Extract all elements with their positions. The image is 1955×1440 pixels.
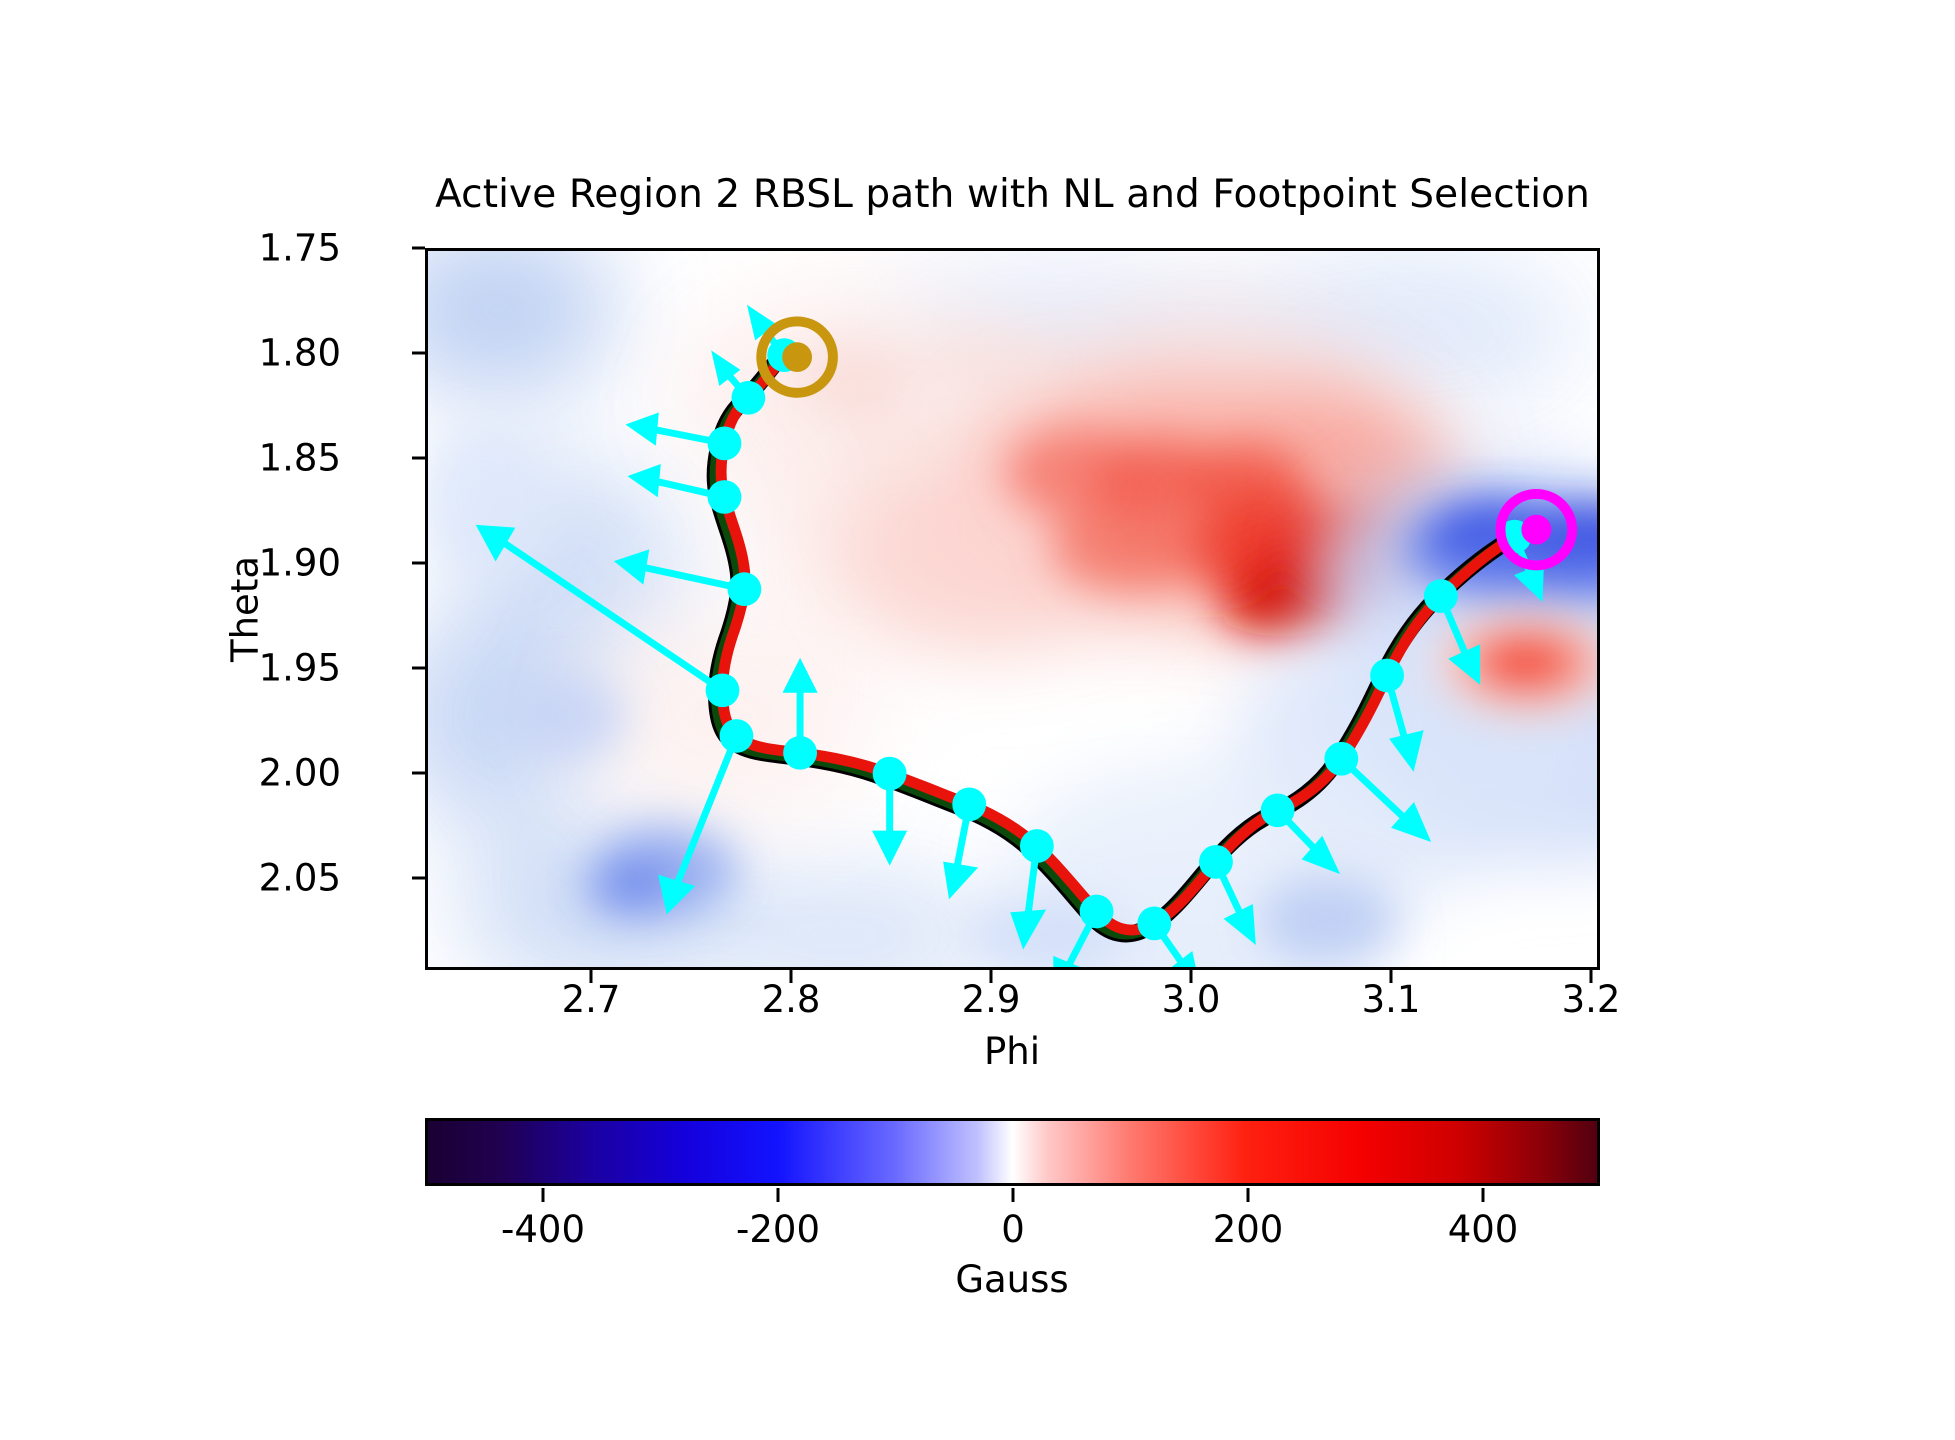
colorbar-gradient (428, 1121, 1597, 1183)
colorbar-tick-mark (1247, 1188, 1250, 1202)
normal-vector-arrows (482, 312, 1541, 967)
colorbar-tick-label: -200 (736, 1208, 820, 1251)
colorbar-tick-label: 200 (1213, 1208, 1284, 1251)
ytick-mark (412, 772, 425, 775)
ytick-label: 1.80 (259, 332, 341, 375)
ytick-label: 1.90 (259, 542, 341, 585)
colorbar-tick-mark (1012, 1188, 1015, 1202)
normal-arrow (1341, 759, 1425, 836)
colorbar-tick-mark (1482, 1188, 1485, 1202)
path-node (873, 757, 907, 791)
colorbar-label: Gauss (955, 1258, 1068, 1301)
figure-canvas: Active Region 2 RBSL path with NL and Fo… (0, 0, 1955, 1440)
path-node (731, 381, 765, 415)
path-node (952, 788, 986, 822)
path-node (1137, 907, 1171, 941)
path-node (1080, 895, 1114, 929)
ytick-label: 1.85 (259, 437, 341, 480)
ytick-label: 2.00 (259, 752, 341, 795)
path-node (783, 736, 817, 770)
path-node (1020, 829, 1054, 863)
ytick-label: 2.05 (259, 857, 341, 900)
path-node (708, 427, 742, 461)
colorbar-tick-label: 0 (1001, 1208, 1025, 1251)
ytick-mark (412, 247, 425, 250)
colorbar-tick-label: -400 (501, 1208, 585, 1251)
ytick-mark (412, 667, 425, 670)
x-axis-label: Phi (984, 1030, 1040, 1073)
ytick-label: 1.75 (259, 227, 341, 270)
path-node (1324, 742, 1358, 776)
path-node (1199, 845, 1233, 879)
normal-arrow-long (663, 736, 737, 908)
colorbar-tick-mark (777, 1188, 780, 1202)
ytick-mark (412, 877, 425, 880)
path-node (1261, 793, 1295, 827)
plot-axes[interactable] (425, 248, 1600, 970)
ytick-label: 1.95 (259, 647, 341, 690)
ytick-mark (412, 562, 425, 565)
path-overlay (428, 251, 1597, 967)
xtick-label: 3.0 (1162, 978, 1221, 1021)
path-node (720, 719, 754, 753)
xtick-label: 3.2 (1562, 978, 1621, 1021)
xtick-label: 2.8 (762, 978, 821, 1021)
normal-arrow-long (482, 529, 723, 691)
colorbar[interactable] (425, 1118, 1600, 1186)
rbsl-path (721, 355, 1526, 930)
normal-arrow (621, 554, 744, 589)
xtick-label: 3.1 (1362, 978, 1421, 1021)
path-node (708, 480, 742, 514)
colorbar-tick-label: 400 (1448, 1208, 1519, 1251)
y-axis-label: Theta (224, 556, 267, 662)
xtick-label: 2.9 (962, 978, 1021, 1021)
path-node (1370, 659, 1404, 693)
path-node (727, 572, 761, 606)
ytick-mark (412, 457, 425, 460)
xtick-label: 2.7 (562, 978, 621, 1021)
path-node (706, 673, 740, 707)
colorbar-tick-mark (542, 1188, 545, 1202)
ytick-mark (412, 352, 425, 355)
page-title: Active Region 2 RBSL path with NL and Fo… (425, 172, 1600, 217)
path-node (1424, 579, 1458, 613)
